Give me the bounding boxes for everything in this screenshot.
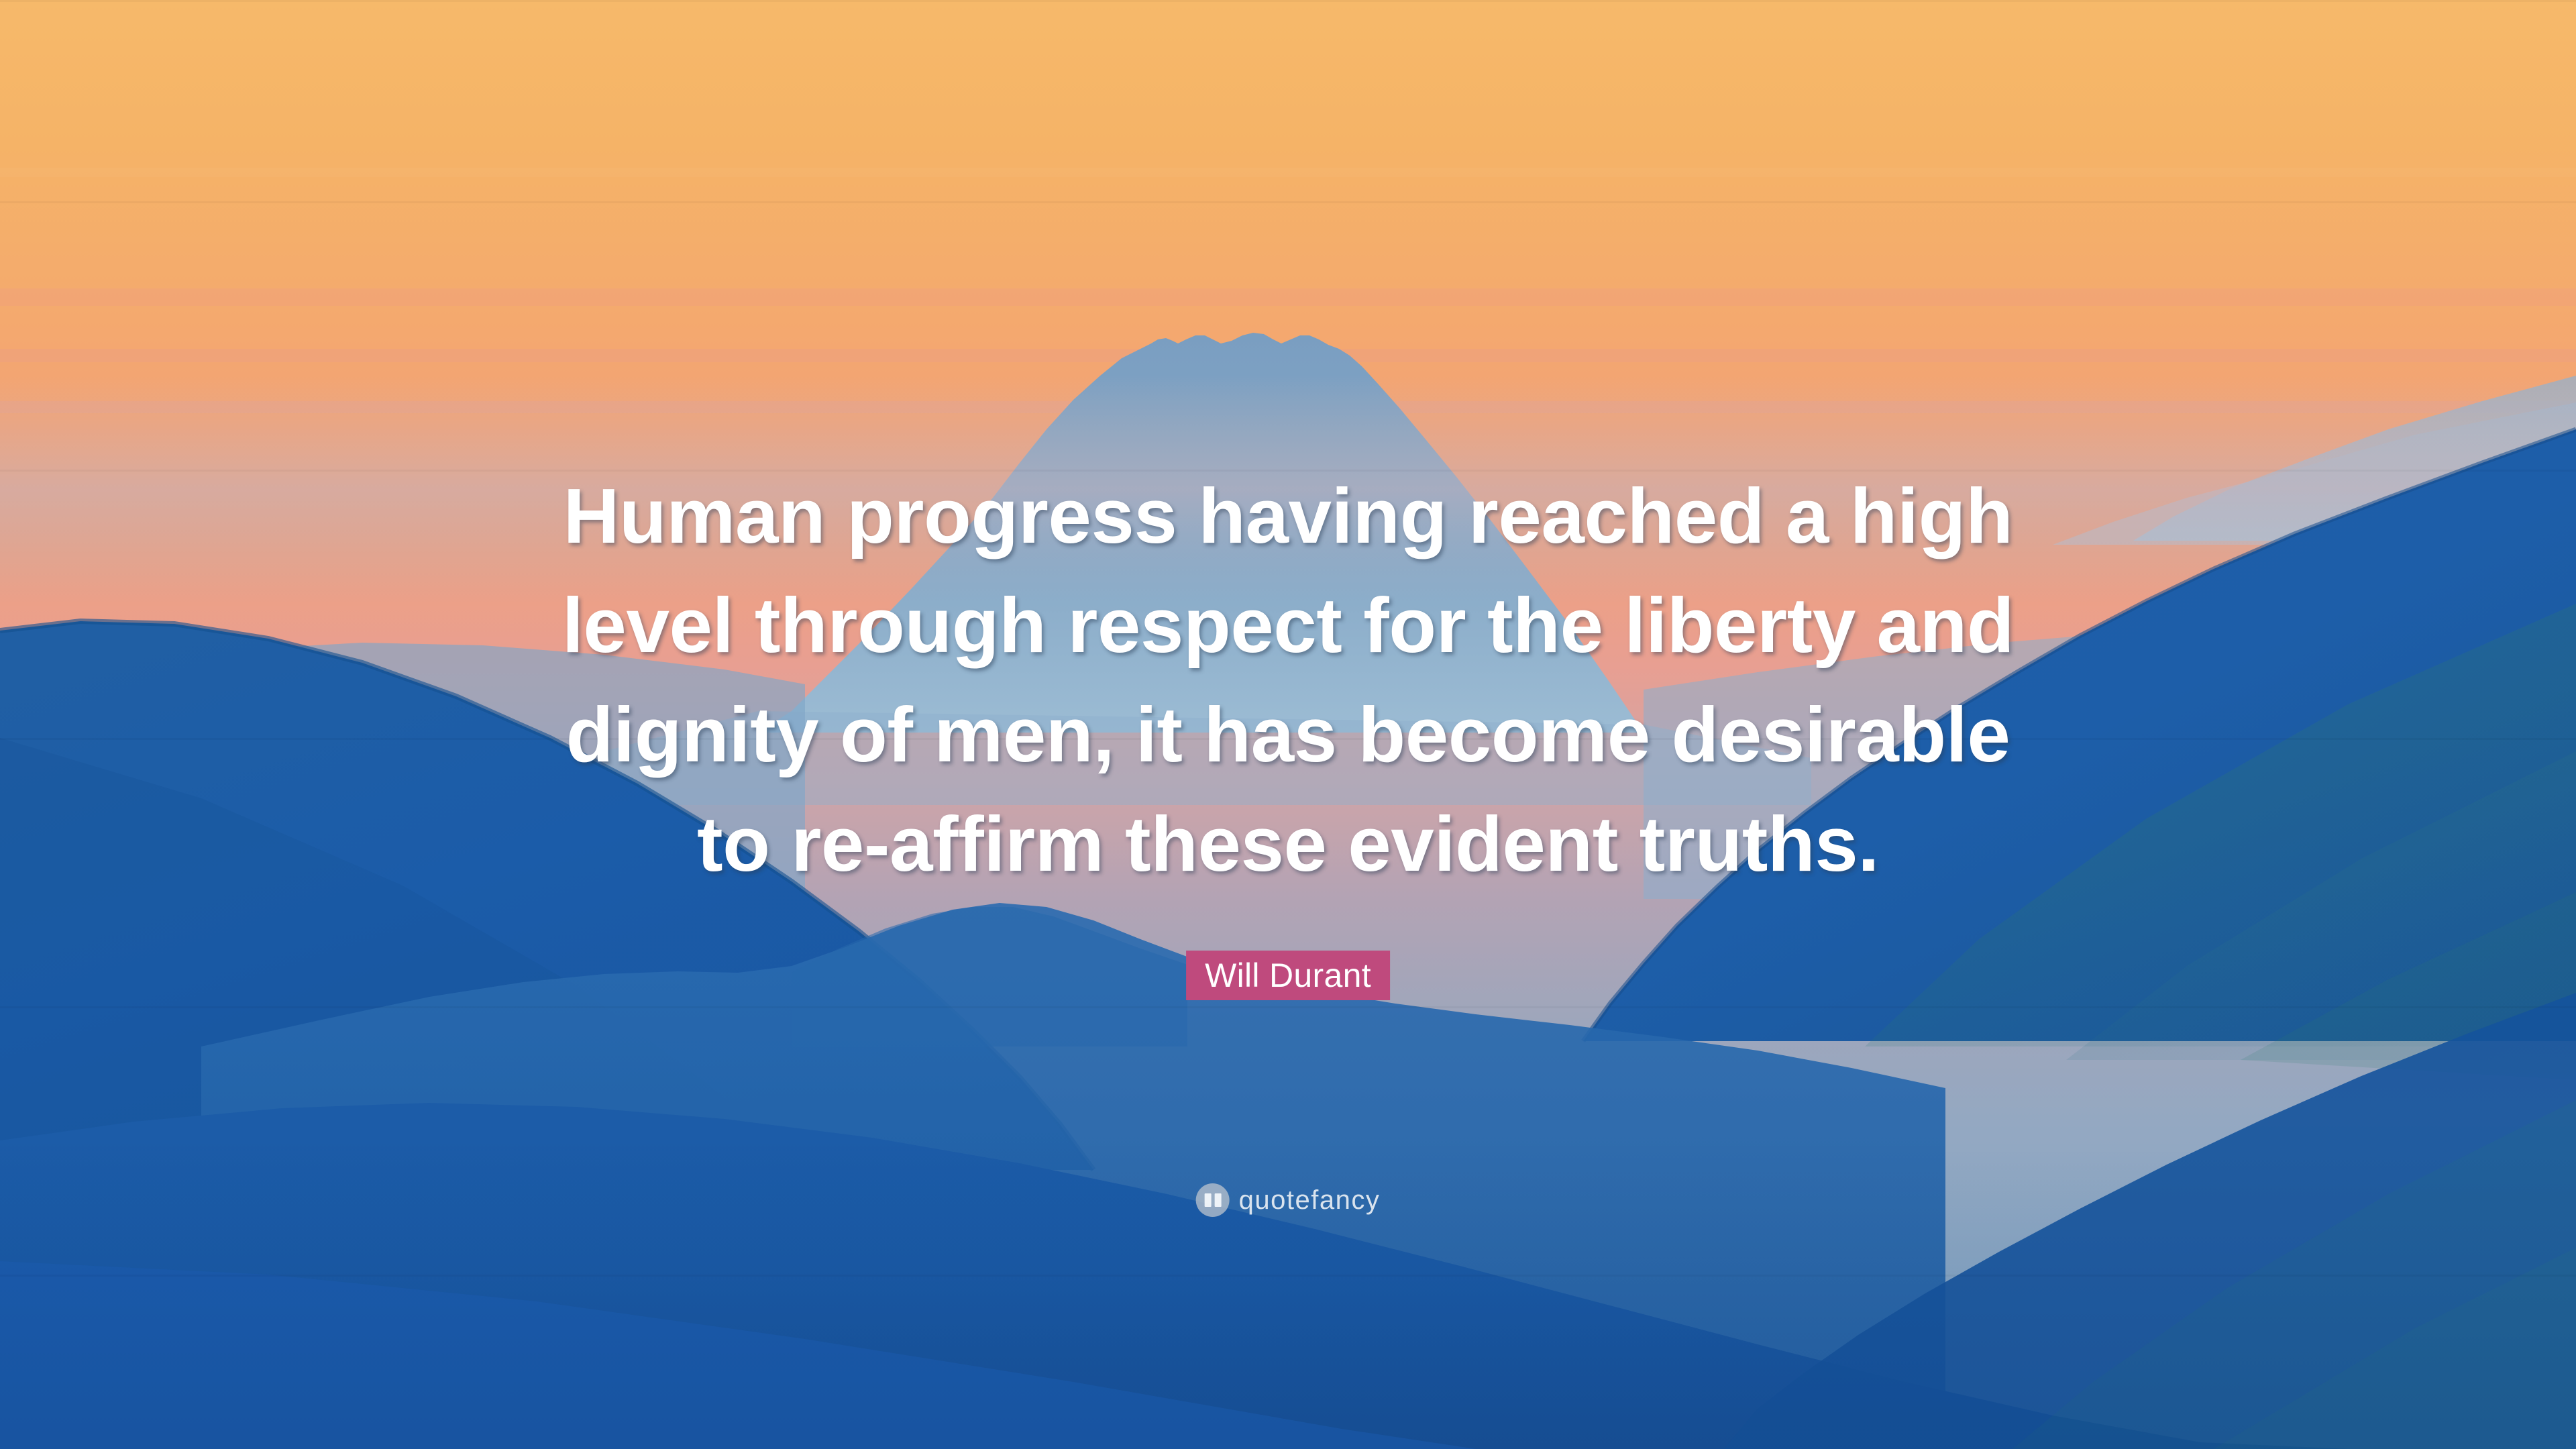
quote-line-3: dignity of men, it has become desirable — [483, 680, 2093, 790]
double-quote-icon — [1196, 1183, 1230, 1217]
watermark-brand-label: quotefancy — [1239, 1185, 1381, 1216]
quote-overlay: Human progress having reached a high lev… — [0, 0, 2576, 1449]
quote-line-2: level through respect for the liberty an… — [483, 571, 2093, 680]
quotefancy-watermark[interactable]: quotefancy — [1196, 1183, 1381, 1217]
quote-mark-left — [1204, 1193, 1211, 1207]
quote-line-4: to re-affirm these evident truths. — [483, 790, 2093, 899]
wallpaper-canvas: Human progress having reached a high lev… — [0, 0, 2576, 1449]
quote-mark-right — [1214, 1193, 1221, 1207]
quote-line-1: Human progress having reached a high — [483, 462, 2093, 571]
quote-text-block: Human progress having reached a high lev… — [483, 462, 2093, 899]
author-attribution-badge: Will Durant — [1186, 951, 1390, 1000]
